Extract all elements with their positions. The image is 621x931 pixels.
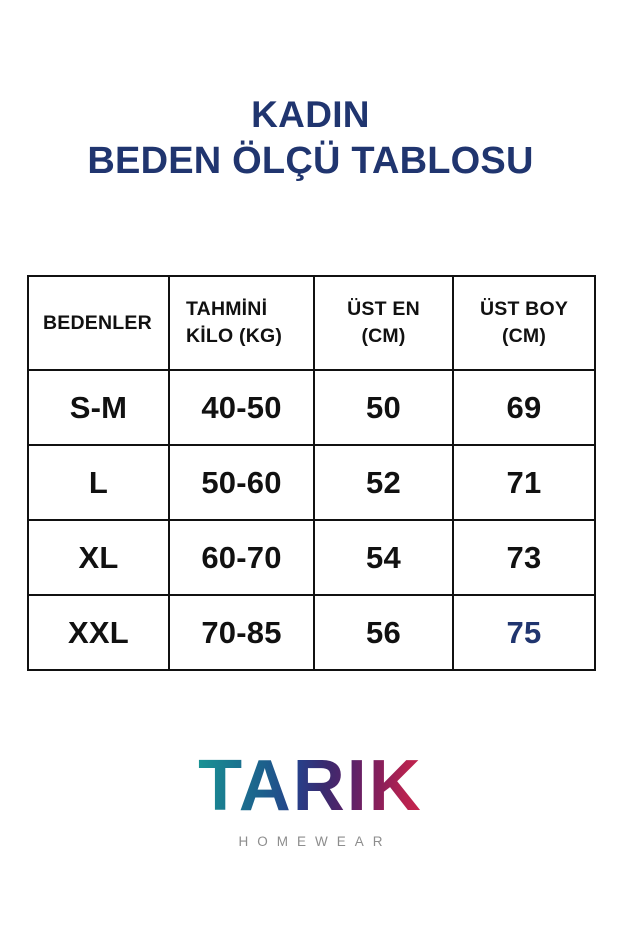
cell-ust-en: 56 bbox=[314, 595, 453, 670]
cell-ust-en: 50 bbox=[314, 370, 453, 445]
table-row: L 50-60 52 71 bbox=[28, 445, 595, 520]
table-row: XXL 70-85 56 75 bbox=[28, 595, 595, 670]
column-header-ust-boy-line-1: ÜST BOY bbox=[480, 298, 568, 320]
brand-wordmark: TARIK bbox=[198, 748, 423, 824]
cell-kilo: 50-60 bbox=[169, 445, 314, 520]
cell-ust-boy: 71 bbox=[453, 445, 595, 520]
cell-beden: L bbox=[28, 445, 169, 520]
cell-kilo: 70-85 bbox=[169, 595, 314, 670]
page-title-line-2: BEDEN ÖLÇÜ TABLOSU bbox=[0, 138, 621, 184]
column-header-tahmini-kilo-line-2: KİLO (KG) bbox=[186, 325, 282, 347]
column-header-ust-en: ÜST EN (CM) bbox=[314, 276, 453, 370]
cell-ust-boy: 73 bbox=[453, 520, 595, 595]
column-header-bedenler: BEDENLER bbox=[28, 276, 169, 370]
cell-ust-boy-highlighted: 75 bbox=[453, 595, 595, 670]
cell-ust-en: 52 bbox=[314, 445, 453, 520]
table-row: XL 60-70 54 73 bbox=[28, 520, 595, 595]
cell-kilo: 60-70 bbox=[169, 520, 314, 595]
column-header-tahmini-kilo-line-1: TAHMİNİ bbox=[186, 298, 267, 320]
column-header-ust-boy: ÜST BOY (CM) bbox=[453, 276, 595, 370]
brand-tagline: HOMEWEAR bbox=[0, 834, 621, 849]
brand-logo: TARIK HOMEWEAR bbox=[0, 748, 621, 849]
column-header-ust-en-line-2: (CM) bbox=[361, 325, 405, 347]
cell-ust-boy: 69 bbox=[453, 370, 595, 445]
column-header-ust-en-line-1: ÜST EN bbox=[347, 298, 420, 320]
cell-beden: XL bbox=[28, 520, 169, 595]
cell-kilo: 40-50 bbox=[169, 370, 314, 445]
cell-beden: XXL bbox=[28, 595, 169, 670]
column-header-tahmini-kilo: TAHMİNİ KİLO (KG) bbox=[169, 276, 314, 370]
cell-ust-en: 54 bbox=[314, 520, 453, 595]
size-chart-table: BEDENLER TAHMİNİ KİLO (KG) ÜST EN (CM) Ü… bbox=[27, 275, 596, 671]
table-row: S-M 40-50 50 69 bbox=[28, 370, 595, 445]
table-header-row: BEDENLER TAHMİNİ KİLO (KG) ÜST EN (CM) Ü… bbox=[28, 276, 595, 370]
cell-beden: S-M bbox=[28, 370, 169, 445]
page-title-line-1: KADIN bbox=[0, 92, 621, 138]
column-header-ust-boy-line-2: (CM) bbox=[502, 325, 546, 347]
page-title: KADIN BEDEN ÖLÇÜ TABLOSU bbox=[0, 92, 621, 184]
